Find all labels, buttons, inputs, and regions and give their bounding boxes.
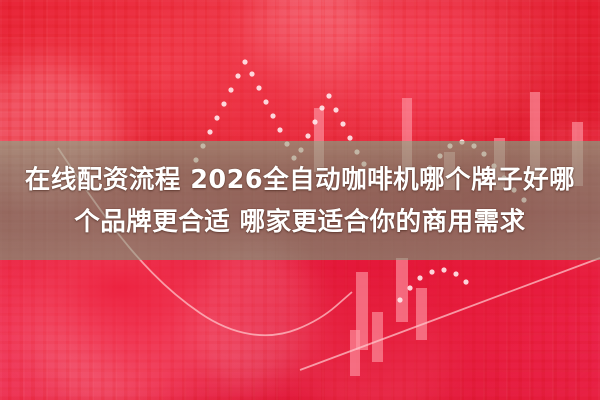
trend-dot <box>429 269 434 274</box>
trend-dot <box>397 297 402 302</box>
trend-dot <box>263 99 268 104</box>
trend-dot <box>333 107 338 112</box>
trend-dot <box>256 85 261 90</box>
candlestick-bar <box>416 288 427 340</box>
trend-dot <box>347 135 352 140</box>
trend-dot <box>417 275 422 280</box>
trend-dot <box>441 267 446 272</box>
candlestick-bar <box>396 258 408 322</box>
trend-dot <box>463 279 468 284</box>
trend-dot <box>221 101 226 106</box>
trend-dot <box>207 129 212 134</box>
trend-dot <box>228 87 233 92</box>
trend-dot <box>305 133 310 138</box>
caption-line-1: 在线配资流程 2026全自动咖啡机哪个牌子好哪 <box>25 160 575 200</box>
trend-dot <box>453 271 458 276</box>
banner-image: 在线配资流程 2026全自动咖啡机哪个牌子好哪 个品牌更合适 哪家更适合你的商用… <box>0 0 600 400</box>
trend-line <box>300 258 600 370</box>
trend-dot <box>214 115 219 120</box>
caption-band: 在线配资流程 2026全自动咖啡机哪个牌子好哪 个品牌更合适 哪家更适合你的商用… <box>0 141 600 260</box>
trend-dot <box>407 285 412 290</box>
trend-dot <box>312 119 317 124</box>
trend-dot <box>326 93 331 98</box>
candlestick-bar <box>350 330 360 376</box>
trend-dot <box>235 73 240 78</box>
candlestick-bar <box>372 312 383 362</box>
trend-dot <box>249 71 254 76</box>
trend-dot <box>277 127 282 132</box>
trend-dot <box>340 121 345 126</box>
trend-dot <box>242 59 247 64</box>
caption-line-2: 个品牌更合适 哪家更适合你的商用需求 <box>74 202 525 242</box>
trend-dot <box>319 105 324 110</box>
trend-dot <box>270 113 275 118</box>
